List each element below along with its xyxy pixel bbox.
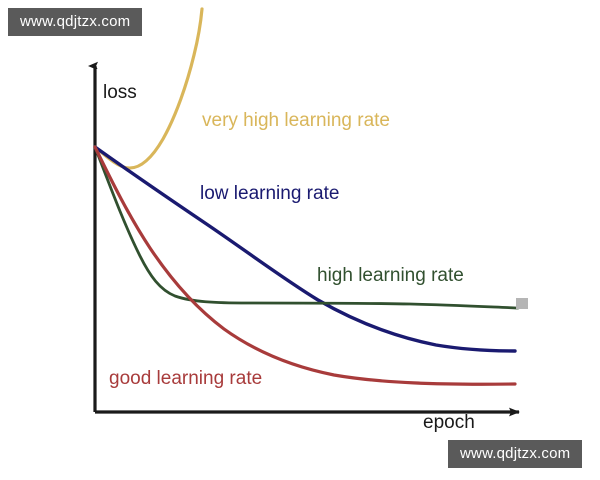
x-axis-label: epoch bbox=[423, 412, 475, 434]
watermark-top-left: www.qdjtzx.com bbox=[8, 8, 142, 36]
series-label-low-learning-rate: low learning rate bbox=[200, 183, 339, 205]
curve-low-learning-rate bbox=[95, 147, 515, 351]
series-label-high-learning-rate: high learning rate bbox=[317, 265, 464, 287]
y-axis-label: loss bbox=[103, 82, 137, 104]
series-label-good-learning-rate: good learning rate bbox=[109, 368, 262, 390]
watermark-bottom-right: www.qdjtzx.com bbox=[448, 440, 582, 468]
high-learning-rate-end-marker bbox=[516, 298, 528, 309]
learning-rate-loss-figure: loss epoch very high learning rate low l… bbox=[0, 0, 600, 480]
loss-curves-plot bbox=[0, 0, 600, 480]
series-label-very-high-learning-rate: very high learning rate bbox=[202, 110, 390, 132]
